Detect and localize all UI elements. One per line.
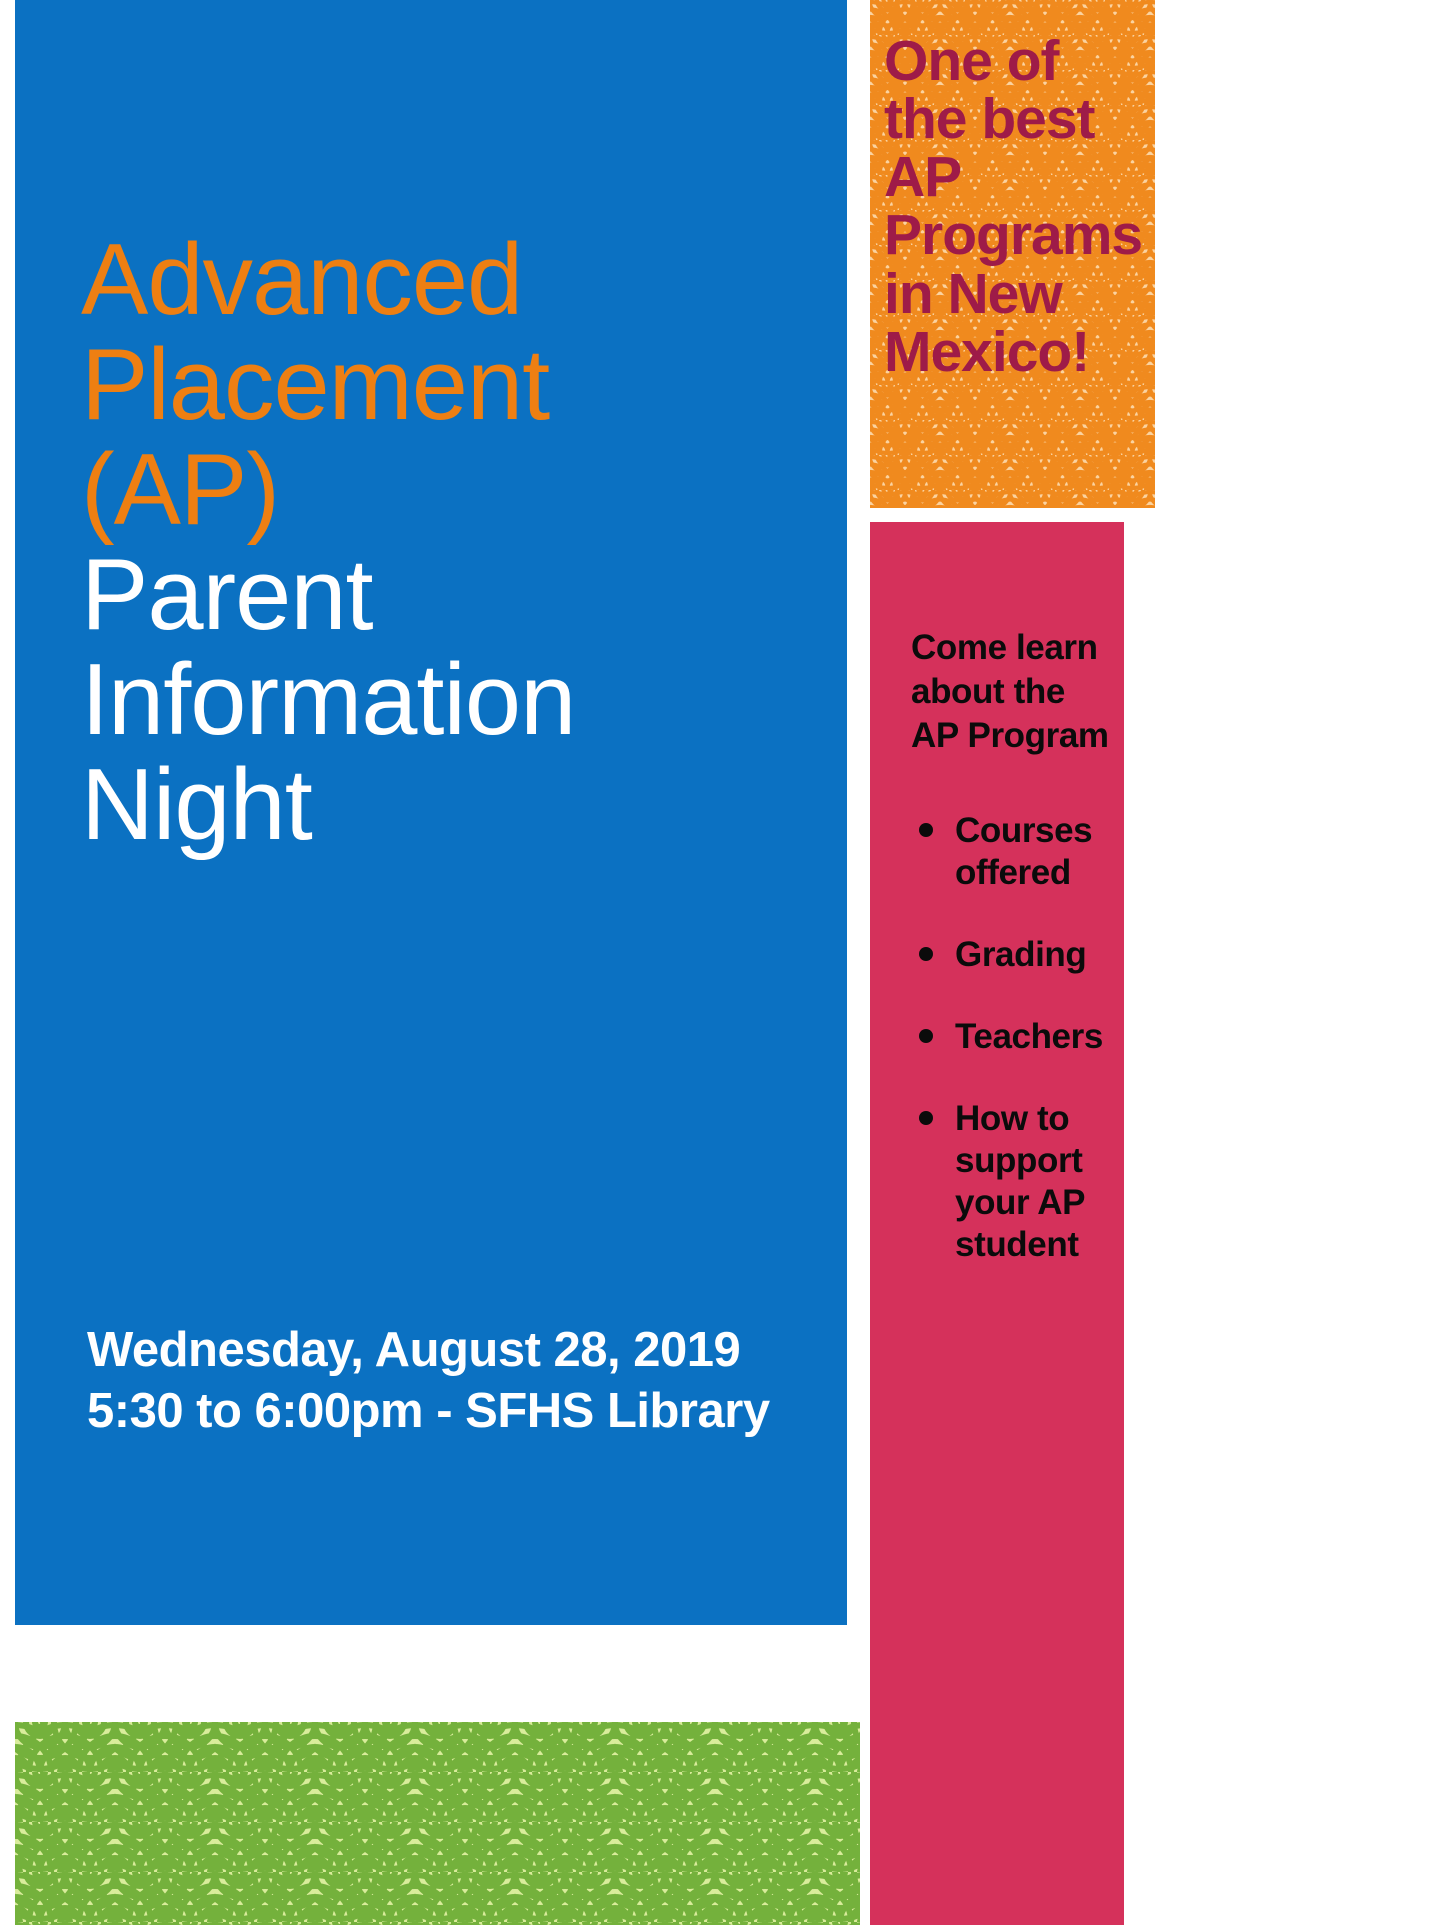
badge-line-1: One of	[884, 32, 1152, 90]
title-line-placement: Placement	[81, 333, 821, 438]
title-line-night: Night	[81, 753, 821, 858]
poster-title-block: Advanced Placement (AP) Parent Informati…	[81, 228, 821, 858]
sidebar-heading: Come learn about the AP Program	[911, 626, 1126, 758]
list-item: Teachers	[911, 1016, 1126, 1058]
sidebar-bullet-list: Courses offered Grading Teachers How to …	[911, 810, 1126, 1266]
list-item: Grading	[911, 934, 1126, 976]
event-time-location: 5:30 to 6:00pm - SFHS Library	[87, 1381, 847, 1442]
title-line-information: Information	[81, 648, 821, 753]
list-item: Courses offered	[911, 810, 1126, 894]
poster-canvas: Advanced Placement (AP) Parent Informati…	[0, 0, 1434, 1925]
bullet-icon	[919, 1029, 933, 1043]
badge-line-6: Mexico!	[884, 323, 1152, 381]
badge-line-3: AP	[884, 148, 1152, 206]
list-item-label: Teachers	[955, 1017, 1103, 1056]
list-item: How to support your AP student	[911, 1098, 1126, 1266]
list-item-label: How to support your AP student	[955, 1099, 1084, 1264]
list-item-label: Grading	[955, 935, 1086, 974]
title-line-parent: Parent	[81, 543, 821, 648]
badge-text-block: One of the best AP Programs in New Mexic…	[884, 32, 1152, 381]
event-date: Wednesday, August 28, 2019	[87, 1320, 847, 1381]
sidebar-heading-line-2: about the	[911, 670, 1126, 714]
badge-line-5: in New	[884, 265, 1152, 323]
sidebar-heading-line-1: Come learn	[911, 626, 1126, 670]
title-line-advanced: Advanced	[81, 228, 821, 333]
badge-line-4: Programs	[884, 206, 1152, 264]
bullet-icon	[919, 1111, 933, 1125]
title-line-ap: (AP)	[81, 438, 821, 543]
event-details-block: Wednesday, August 28, 2019 5:30 to 6:00p…	[87, 1320, 847, 1443]
green-wave-pattern-panel	[15, 1722, 860, 1925]
badge-line-2: the best	[884, 90, 1152, 148]
bullet-icon	[919, 823, 933, 837]
seigaiha-wave-pattern-icon	[15, 1722, 860, 1925]
bullet-icon	[919, 947, 933, 961]
sidebar-heading-line-3: AP Program	[911, 714, 1126, 758]
sidebar-content: Come learn about the AP Program Courses …	[911, 626, 1126, 1306]
list-item-label: Courses offered	[955, 811, 1092, 892]
main-blue-panel: Advanced Placement (AP) Parent Informati…	[15, 0, 847, 1625]
